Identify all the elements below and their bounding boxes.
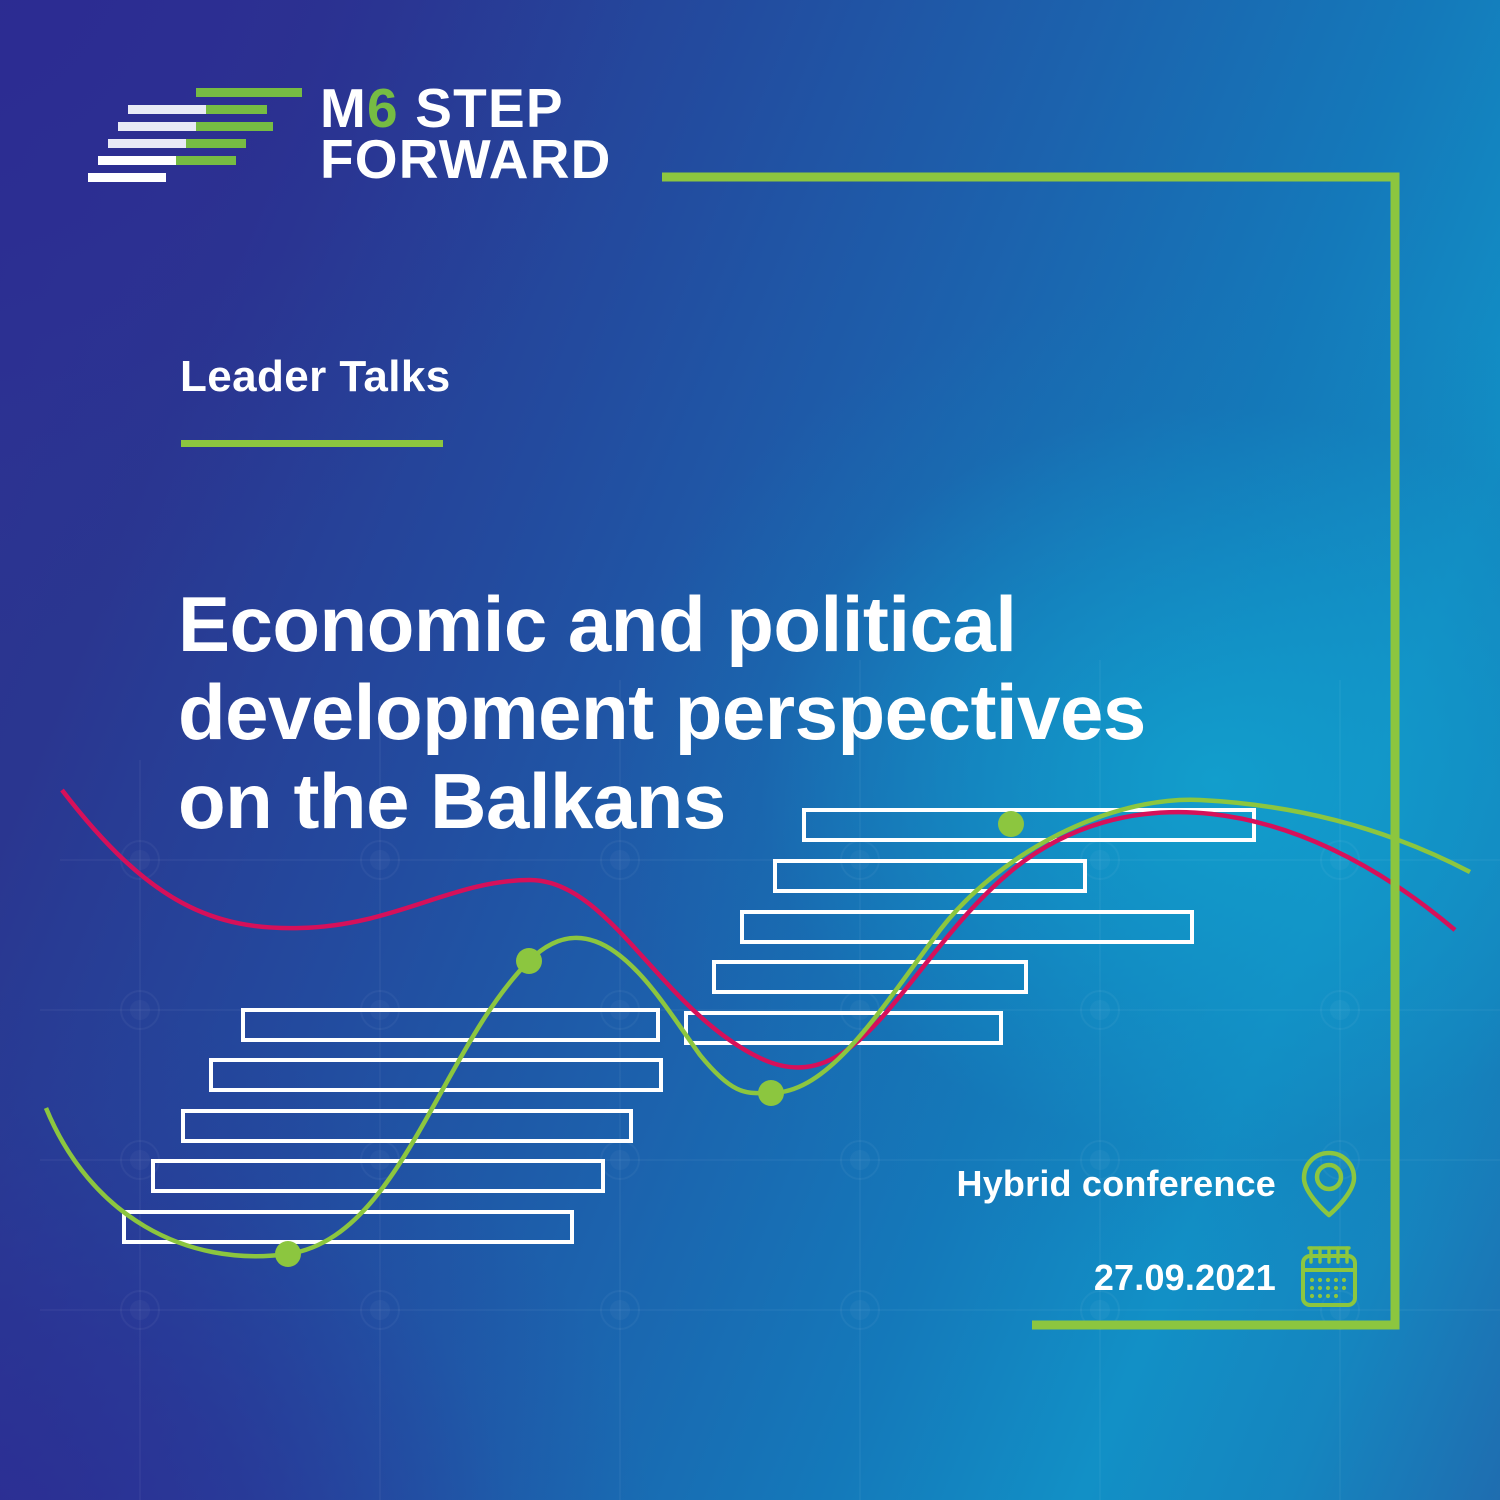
- brand-wordmark: M6 STEP FORWARD: [320, 83, 612, 184]
- brand-wordmark-line2: FORWARD: [320, 134, 612, 185]
- poster-canvas: M6 STEP FORWARD Leader Talks Economic an…: [0, 0, 1500, 1500]
- page-title: Economic and political development persp…: [178, 580, 1268, 844]
- calendar-icon: [1298, 1242, 1360, 1314]
- event-date-label: 27.09.2021: [1094, 1257, 1276, 1299]
- brand-logo[interactable]: M6 STEP FORWARD: [88, 82, 612, 186]
- page-title-line-3: on the Balkans: [178, 757, 1268, 845]
- event-info: Hybrid conference 27.09.2021: [940, 1148, 1360, 1314]
- page-title-line-2: development perspectives: [178, 668, 1268, 756]
- event-format-label: Hybrid conference: [957, 1163, 1277, 1205]
- eyebrow-label: Leader Talks: [180, 352, 451, 402]
- eyebrow-divider: [181, 440, 443, 447]
- event-date-row: 27.09.2021: [940, 1242, 1360, 1314]
- location-pin-icon: [1298, 1148, 1360, 1220]
- m6-step-forward-logomark: [88, 82, 310, 186]
- event-format-row: Hybrid conference: [940, 1148, 1360, 1220]
- brand-wordmark-line1: M6 STEP: [320, 83, 612, 134]
- page-title-line-1: Economic and political: [178, 580, 1268, 668]
